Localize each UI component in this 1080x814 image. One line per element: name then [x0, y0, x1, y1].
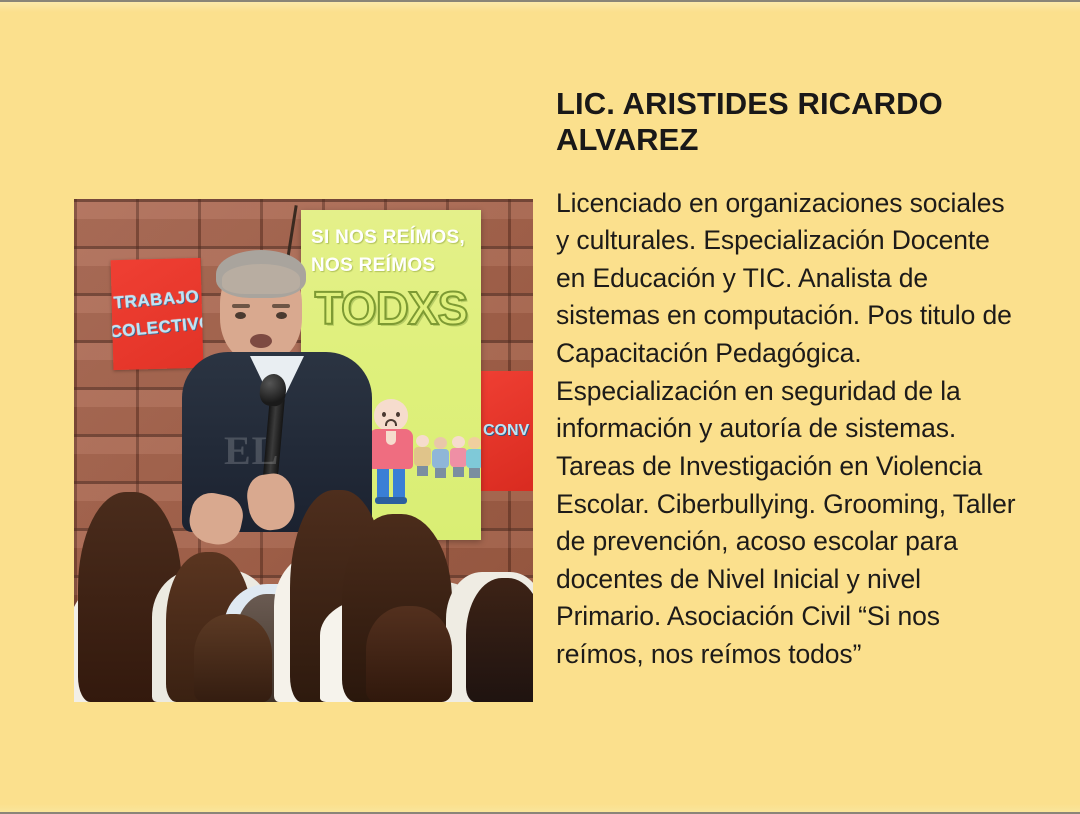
profile-text-column: LIC. ARISTIDES RICARDO ALVAREZ Licenciad… [556, 86, 1016, 674]
speaker-mouth [250, 334, 272, 348]
speaker-photo: TRABAJO COLECTIVO CONV SI NOS REÍMOS, NO… [74, 199, 533, 702]
speaker-hair [216, 250, 306, 298]
top-edge-highlight [0, 2, 1080, 12]
audience-group [74, 442, 533, 702]
page-title: LIC. ARISTIDES RICARDO ALVAREZ [556, 86, 1016, 159]
profile-bio: Licenciado en organizaciones sociales y … [556, 185, 1016, 674]
speaker-head [220, 258, 302, 362]
bottom-edge-highlight [0, 804, 1080, 812]
poster-right-line1: CONV [483, 422, 529, 440]
profile-card: TRABAJO COLECTIVO CONV SI NOS REÍMOS, NO… [0, 0, 1080, 814]
banner-headline-line1: SI NOS REÍMOS, [311, 227, 465, 248]
